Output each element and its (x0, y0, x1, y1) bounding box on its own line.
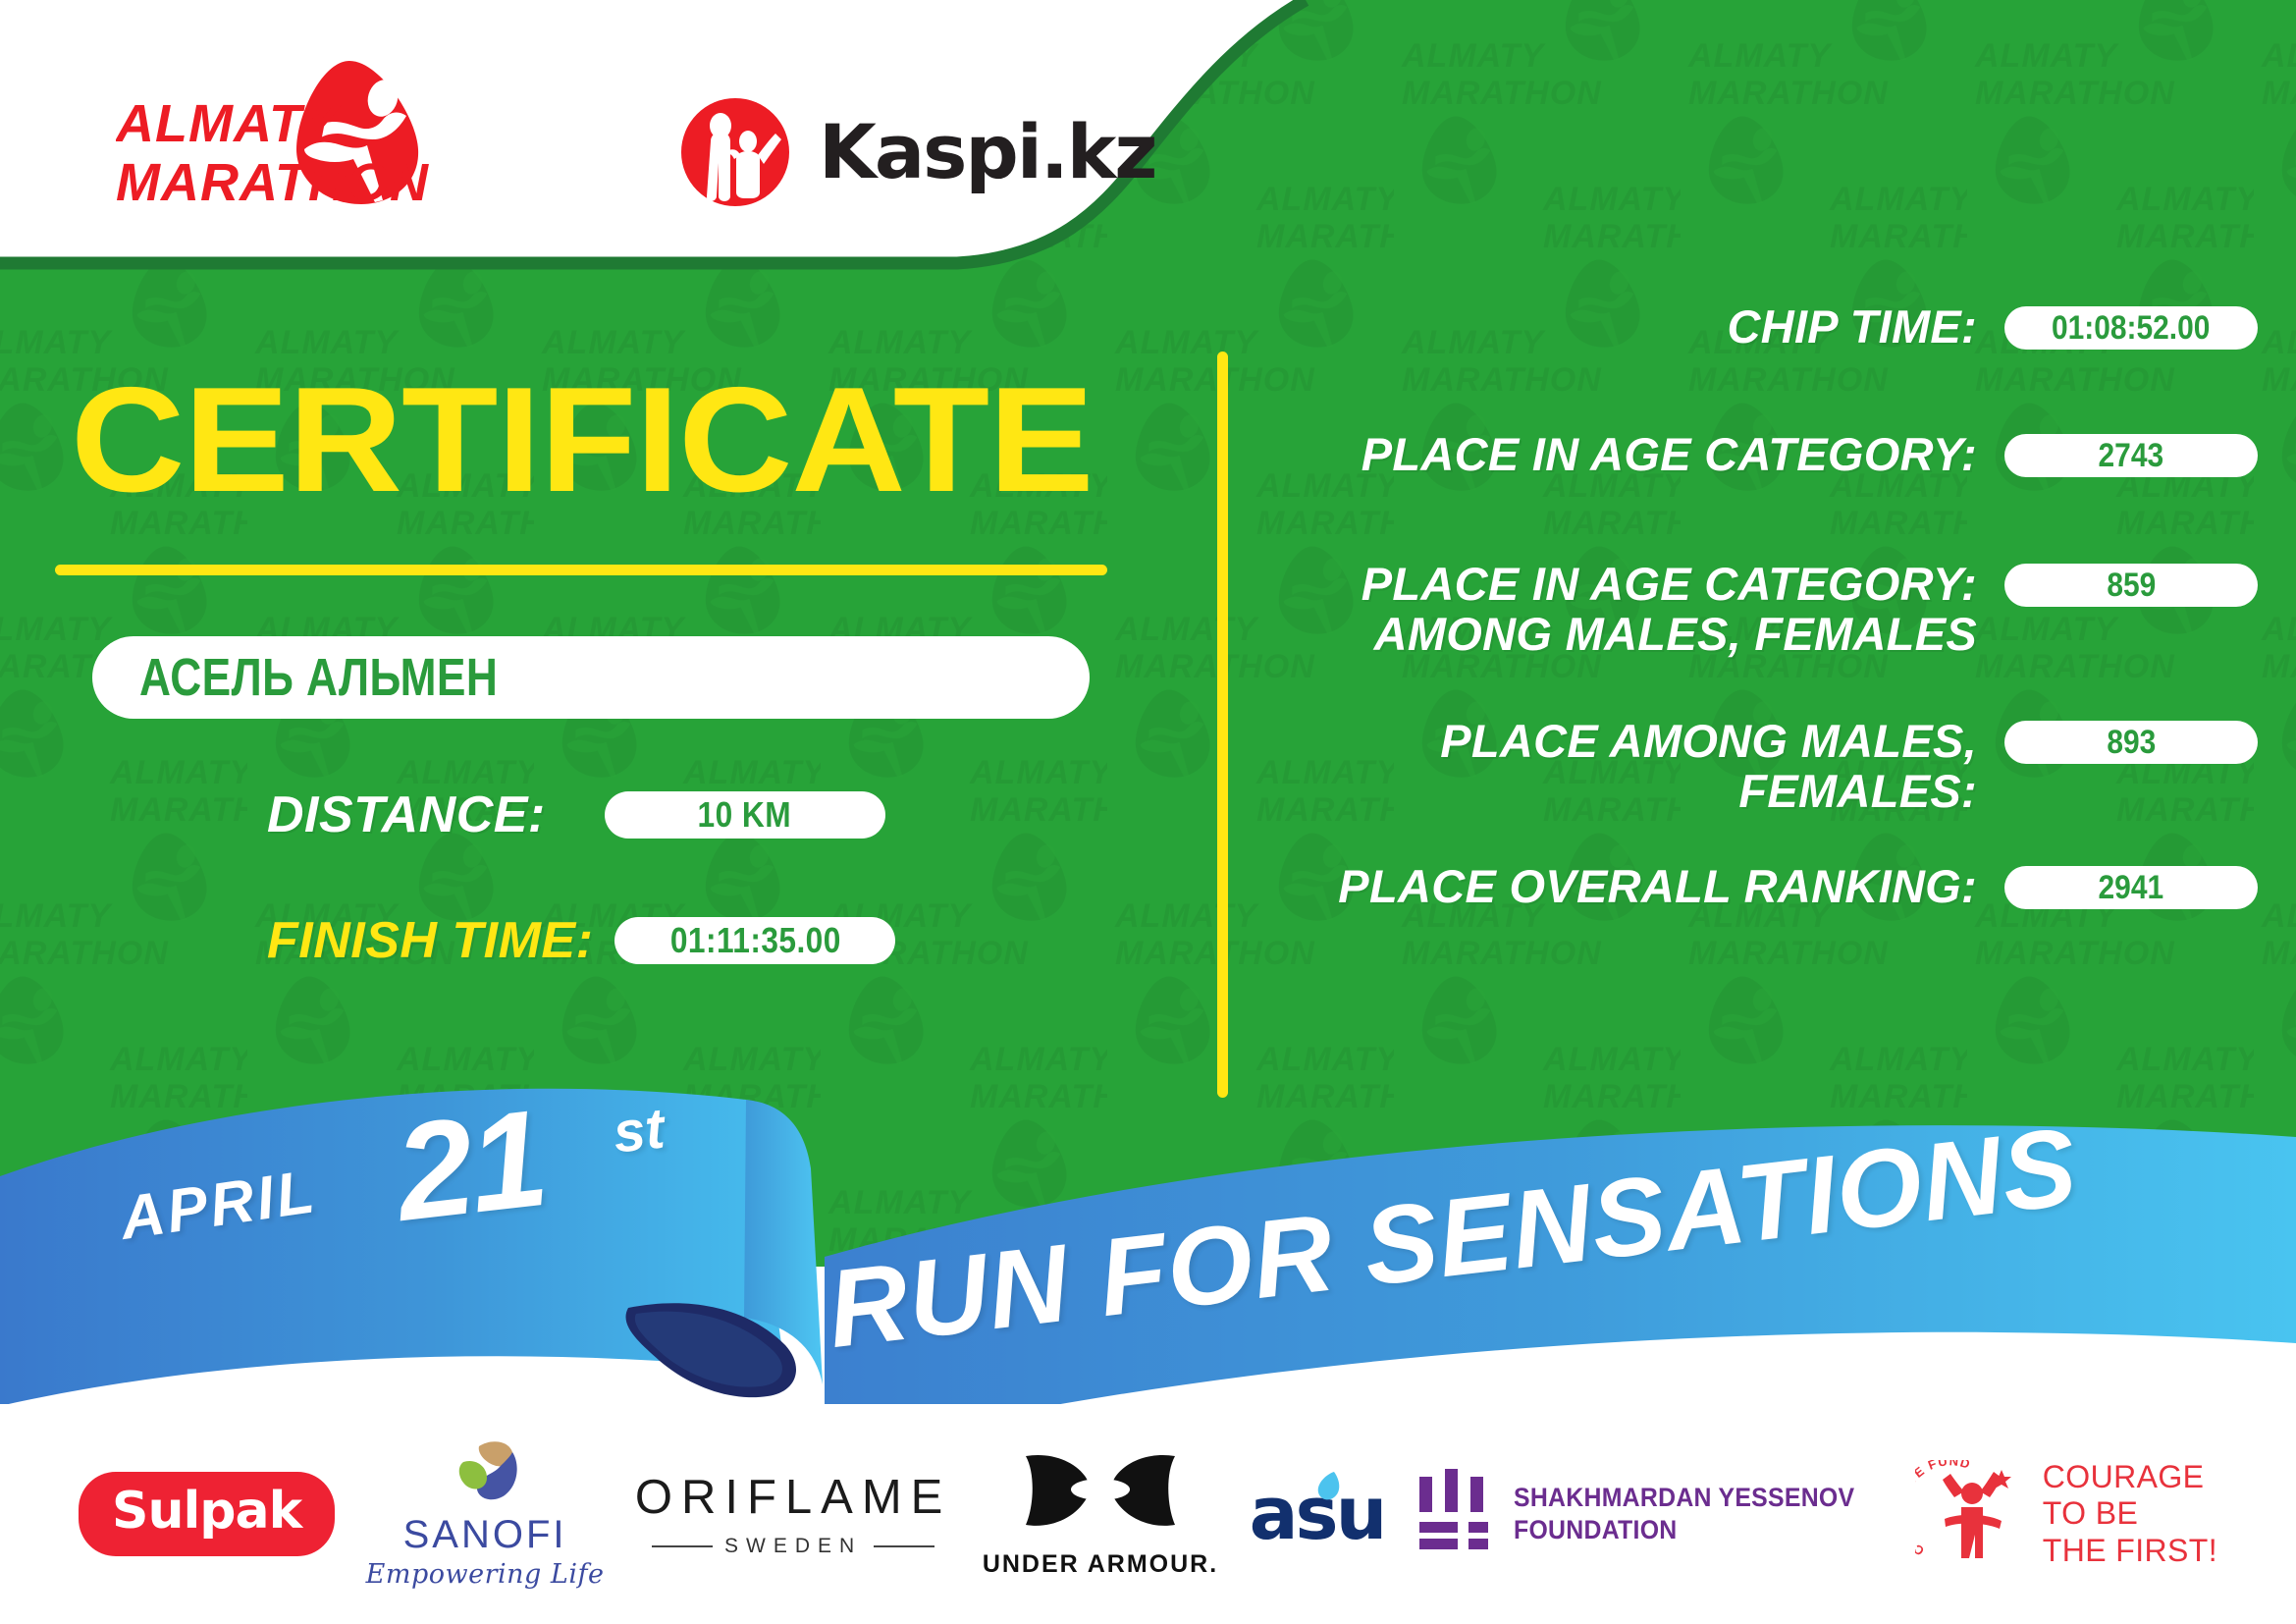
result-row: PLACE IN AGE CATEGORY: AMONG MALES, FEMA… (1276, 560, 2258, 660)
distance-value-pill: 10 KM (605, 791, 885, 839)
result-row: PLACE OVERALL RANKING: 2941 (1276, 862, 2258, 912)
almaty-marathon-logo: ALMATY MARATHON (116, 55, 440, 212)
certificate-left-panel: CERTIFICATE АСЕЛЬ АЛЬМЕН DISTANCE: 10 KM… (0, 324, 1178, 1129)
sanofi-icon (440, 1438, 530, 1511)
result-value: 893 (2107, 724, 2156, 762)
ribbon-day-ordinal: st (611, 1095, 667, 1165)
event-date-ribbon: APRIL 21 st RUN FOR SENSATIONS (0, 1060, 2296, 1414)
sponsor-courage-to-be-first: CORPORATE FUND COURAGE TO BE THE FIRST! (1915, 1459, 2217, 1568)
courage-line1: COURAGE (2043, 1459, 2217, 1495)
sponsor-sulpak: Sulpak (79, 1472, 335, 1556)
sponsor-under-armour: UNDER ARMOUR. (983, 1450, 1218, 1579)
result-value-pill: 2743 (2004, 434, 2258, 477)
almaty-logo-line2: MARATHON (116, 153, 429, 212)
oriflame-rule-left (652, 1545, 713, 1547)
distance-label: DISTANCE: (267, 785, 546, 844)
almaty-logo-line1: ALMATY (116, 94, 343, 153)
kaspi-logo: Kaspi.kz (677, 94, 1156, 210)
sanofi-tagline: Empowering Life (366, 1559, 605, 1590)
oriflame-subline: SWEDEN (652, 1535, 934, 1558)
yessenov-bars-icon (1415, 1469, 1492, 1559)
sponsor-yessenov-foundation: SHAKHMARDAN YESSENOV FOUNDATION (1415, 1469, 1885, 1559)
result-row: CHIP TIME: 01:08:52.00 (1276, 302, 2258, 352)
finish-time-value-pill: 01:11:35.00 (614, 917, 895, 964)
results-panel: CHIP TIME: 01:08:52.00 PLACE IN AGE CATE… (1276, 324, 2296, 1110)
result-value: 859 (2107, 567, 2156, 605)
courage-line3: THE FIRST! (2043, 1533, 2217, 1569)
vertical-divider (1217, 352, 1228, 1098)
courage-wordmark: COURAGE TO BE THE FIRST! (2043, 1459, 2217, 1568)
result-value: 2743 (2099, 437, 2164, 475)
kaspi-wordmark: Kaspi.kz (819, 115, 1156, 189)
result-value: 01:08:52.00 (2052, 309, 2210, 348)
yessenov-line2: FOUNDATION (1514, 1514, 1854, 1546)
participant-name: АСЕЛЬ АЛЬМЕН (139, 647, 498, 708)
distance-value: 10 KM (698, 794, 792, 836)
kaspi-people-circle-icon (677, 94, 793, 210)
result-row: PLACE AMONG MALES, FEMALES: 893 (1276, 717, 2258, 817)
courage-figure-icon: CORPORATE FUND (1915, 1460, 2029, 1568)
result-value: 2941 (2099, 869, 2164, 907)
courage-line2: TO BE (2043, 1495, 2217, 1532)
yessenov-wordmark: SHAKHMARDAN YESSENOV FOUNDATION (1514, 1482, 1854, 1546)
under-armour-wordmark: UNDER ARMOUR. (983, 1550, 1218, 1579)
ribbon-day: 21 (388, 1078, 552, 1253)
result-value-pill: 859 (2004, 564, 2258, 607)
asu-droplet-icon (1308, 1470, 1348, 1507)
distance-row: DISTANCE: 10 KM (267, 785, 885, 844)
sponsor-sanofi: SANOFI Empowering Life (366, 1438, 605, 1590)
result-label: PLACE IN AGE CATEGORY: (1276, 430, 2004, 480)
result-label: PLACE OVERALL RANKING: (1276, 862, 2004, 912)
finish-time-label: FINISH TIME: (267, 911, 593, 970)
sponsor-bar: Sulpak SANOFI Empowering Life ORIFLAME S… (0, 1404, 2296, 1624)
result-row: PLACE IN AGE CATEGORY: 2743 (1276, 430, 2258, 480)
result-label: PLACE IN AGE CATEGORY: AMONG MALES, FEMA… (1276, 560, 2004, 660)
oriflame-wordmark: ORIFLAME (635, 1470, 951, 1525)
result-label: PLACE AMONG MALES, FEMALES: (1276, 717, 2004, 817)
participant-name-field: АСЕЛЬ АЛЬМЕН (92, 636, 1090, 719)
sponsor-asu: asu (1250, 1478, 1385, 1550)
oriflame-country: SWEDEN (724, 1535, 862, 1558)
sulpak-wordmark: Sulpak (112, 1482, 301, 1541)
title-underline-rule (55, 565, 1107, 575)
result-label: CHIP TIME: (1276, 302, 2004, 352)
finish-time-value: 01:11:35.00 (669, 920, 840, 961)
certificate-page: ALMATY MARATHON Kaspi.kz CERTIFICATE АСЕ… (0, 0, 2296, 1624)
under-armour-icon (1020, 1450, 1181, 1541)
oriflame-rule-right (874, 1545, 934, 1547)
yessenov-line1: SHAKHMARDAN YESSENOV (1514, 1482, 1854, 1514)
sanofi-wordmark: SANOFI (403, 1513, 567, 1557)
certificate-title: CERTIFICATE (71, 365, 1094, 514)
finish-time-row: FINISH TIME: 01:11:35.00 (267, 911, 895, 970)
result-value-pill: 01:08:52.00 (2004, 306, 2258, 350)
result-value-pill: 2941 (2004, 866, 2258, 909)
sponsor-oriflame: ORIFLAME SWEDEN (635, 1470, 951, 1558)
result-value-pill: 893 (2004, 721, 2258, 764)
